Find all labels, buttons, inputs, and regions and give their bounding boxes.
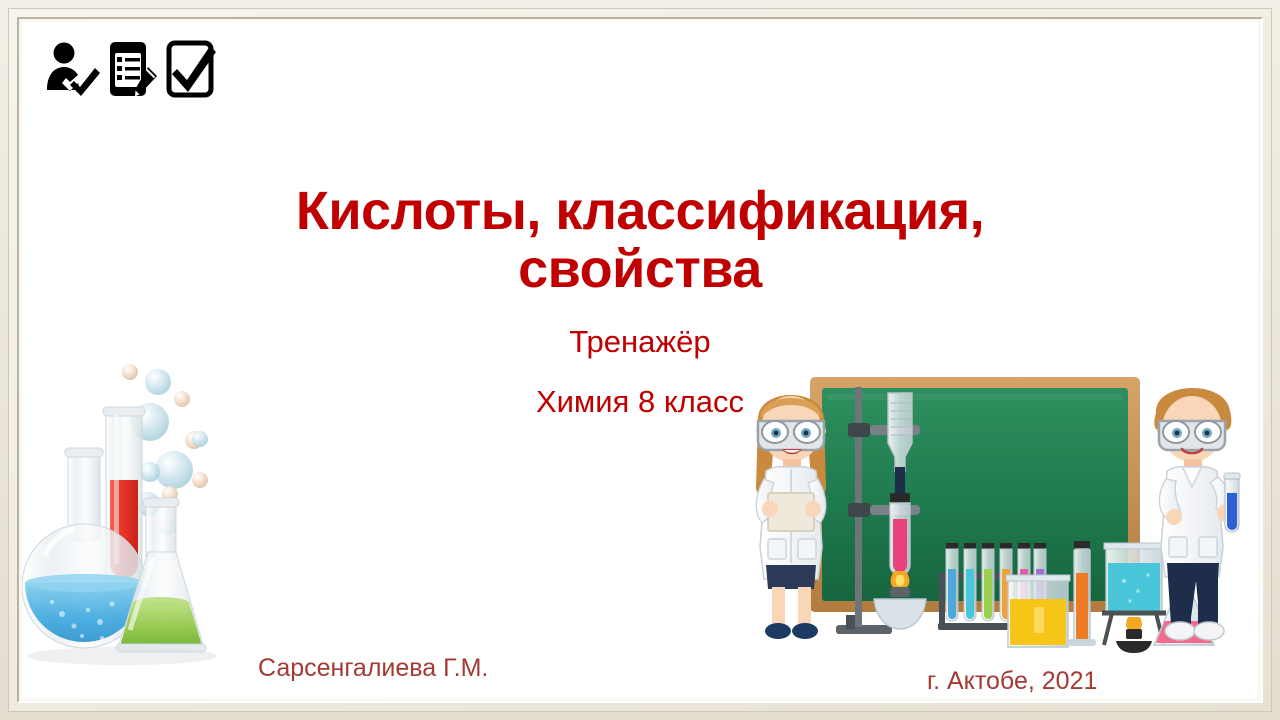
page-title: Кислоты, классификация, свойства — [170, 182, 1110, 299]
slide-root: Кислоты, классификация, свойства Тренажё… — [0, 0, 1280, 720]
form-pencil-icon — [108, 40, 158, 98]
subtitle-trainer: Тренажёр — [22, 325, 1258, 359]
text-block: Кислоты, классификация, свойства Тренажё… — [22, 182, 1258, 419]
blue-beaker — [1102, 543, 1166, 653]
held-test-tube — [1224, 473, 1240, 532]
author-name: Сарсенгалиева Г.М. — [258, 654, 488, 683]
safety-goggles — [1159, 421, 1225, 450]
checkbox-checked-icon — [166, 40, 216, 98]
subtitle-course: Химия 8 класс — [22, 385, 1258, 419]
beaker-burner — [1116, 617, 1152, 653]
safety-goggles — [758, 421, 824, 450]
person-check-icon — [44, 40, 100, 98]
yellow-beaker — [1006, 575, 1070, 647]
icon-cluster — [44, 40, 216, 98]
boy-student — [1154, 388, 1240, 640]
place-and-year: г. Актобе, 2021 — [927, 667, 1097, 696]
pink-test-tube — [890, 493, 910, 575]
slide-canvas: Кислоты, классификация, свойства Тренажё… — [22, 22, 1258, 698]
